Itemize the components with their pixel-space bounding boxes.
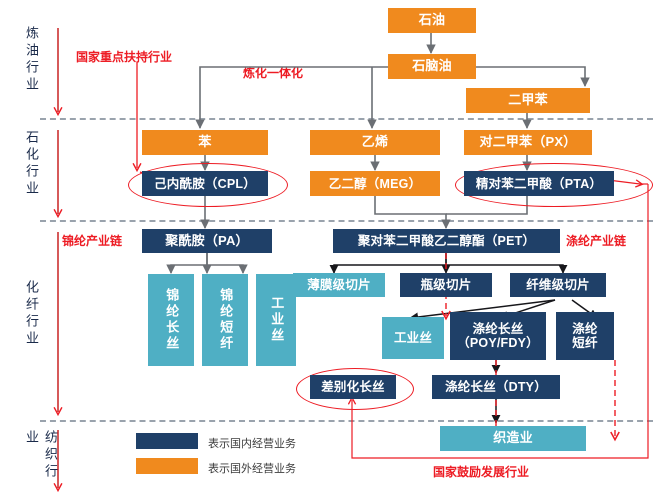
node-bottle-chip[interactable]: 瓶级切片 (400, 273, 492, 297)
node-poy-fdy-line1: 涤纶长丝 (473, 322, 524, 336)
legend-label-overseas: 表示国外经营业务 (208, 460, 296, 476)
node-industrial-yarn-nylon[interactable]: 工业丝 (256, 274, 296, 366)
separator-petrochemical-fiber (40, 220, 653, 222)
node-ethylene[interactable]: 乙烯 (310, 130, 440, 155)
node-meg[interactable]: 乙二醇（MEG） (310, 171, 440, 196)
node-dty[interactable]: 涤纶长丝（DTY） (432, 375, 560, 399)
node-benzene[interactable]: 苯 (142, 130, 268, 155)
node-pet-staple-line2: 短纤 (572, 336, 597, 350)
legend-swatch-overseas (136, 458, 198, 474)
legend-swatch-domestic (136, 433, 198, 449)
node-weaving[interactable]: 织造业 (440, 426, 586, 451)
annotation-nylon-chain: 锦纶产业链 (62, 232, 122, 249)
node-cpl[interactable]: 己内酰胺（CPL） (142, 171, 268, 196)
node-fiber-chip[interactable]: 纤维级切片 (510, 273, 606, 297)
node-nylon-staple[interactable]: 锦纶短纤 (202, 274, 248, 366)
node-poy-fdy[interactable]: 涤纶长丝 （POY/FDY） (450, 312, 546, 360)
section-label-refining: 炼油行业 (22, 26, 41, 94)
node-paraxylene[interactable]: 对二甲苯（PX） (464, 130, 592, 155)
legend-label-domestic: 表示国内经营业务 (208, 435, 296, 451)
node-pta[interactable]: 精对苯二甲酸（PTA） (464, 171, 614, 196)
node-film-chip[interactable]: 薄膜级切片 (293, 273, 385, 297)
separator-fiber-textile (40, 420, 653, 422)
node-xylene[interactable]: 二甲苯 (466, 88, 590, 113)
node-industrial-yarn-pet[interactable]: 工业丝 (382, 317, 444, 359)
node-nylon-filament[interactable]: 锦纶长丝 (148, 274, 194, 366)
node-pet[interactable]: 聚对苯二甲酸乙二醇酯（PET） (333, 229, 560, 253)
annotation-state-encourage: 国家鼓励发展行业 (433, 463, 529, 480)
node-naphtha[interactable]: 石脑油 (388, 54, 476, 79)
separator-refining-petrochemical (40, 118, 653, 120)
section-label-chemical-fiber: 化纤行业 (22, 280, 41, 348)
annotation-polyester-chain: 涤纶产业链 (566, 232, 626, 249)
node-pet-staple-line1: 涤纶 (572, 322, 597, 336)
node-crude-oil[interactable]: 石油 (388, 8, 476, 33)
node-pet-staple[interactable]: 涤纶 短纤 (556, 312, 614, 360)
section-label-petrochemical: 石化行业 (22, 130, 41, 198)
node-poy-fdy-line2: （POY/FDY） (457, 336, 539, 350)
annotation-refining-integration: 炼化一体化 (243, 64, 303, 81)
node-pa[interactable]: 聚酰胺（PA） (142, 229, 272, 253)
annotation-state-support: 国家重点扶持行业 (76, 48, 172, 65)
value-chain-diagram: 炼油行业 石化行业 化纤行业 纺织行业 国家重点扶持行业 炼化一体化 锦纶产业链… (0, 0, 661, 495)
section-label-textile: 纺织行业 (22, 430, 60, 495)
node-differentiated-filament[interactable]: 差别化长丝 (310, 375, 396, 399)
